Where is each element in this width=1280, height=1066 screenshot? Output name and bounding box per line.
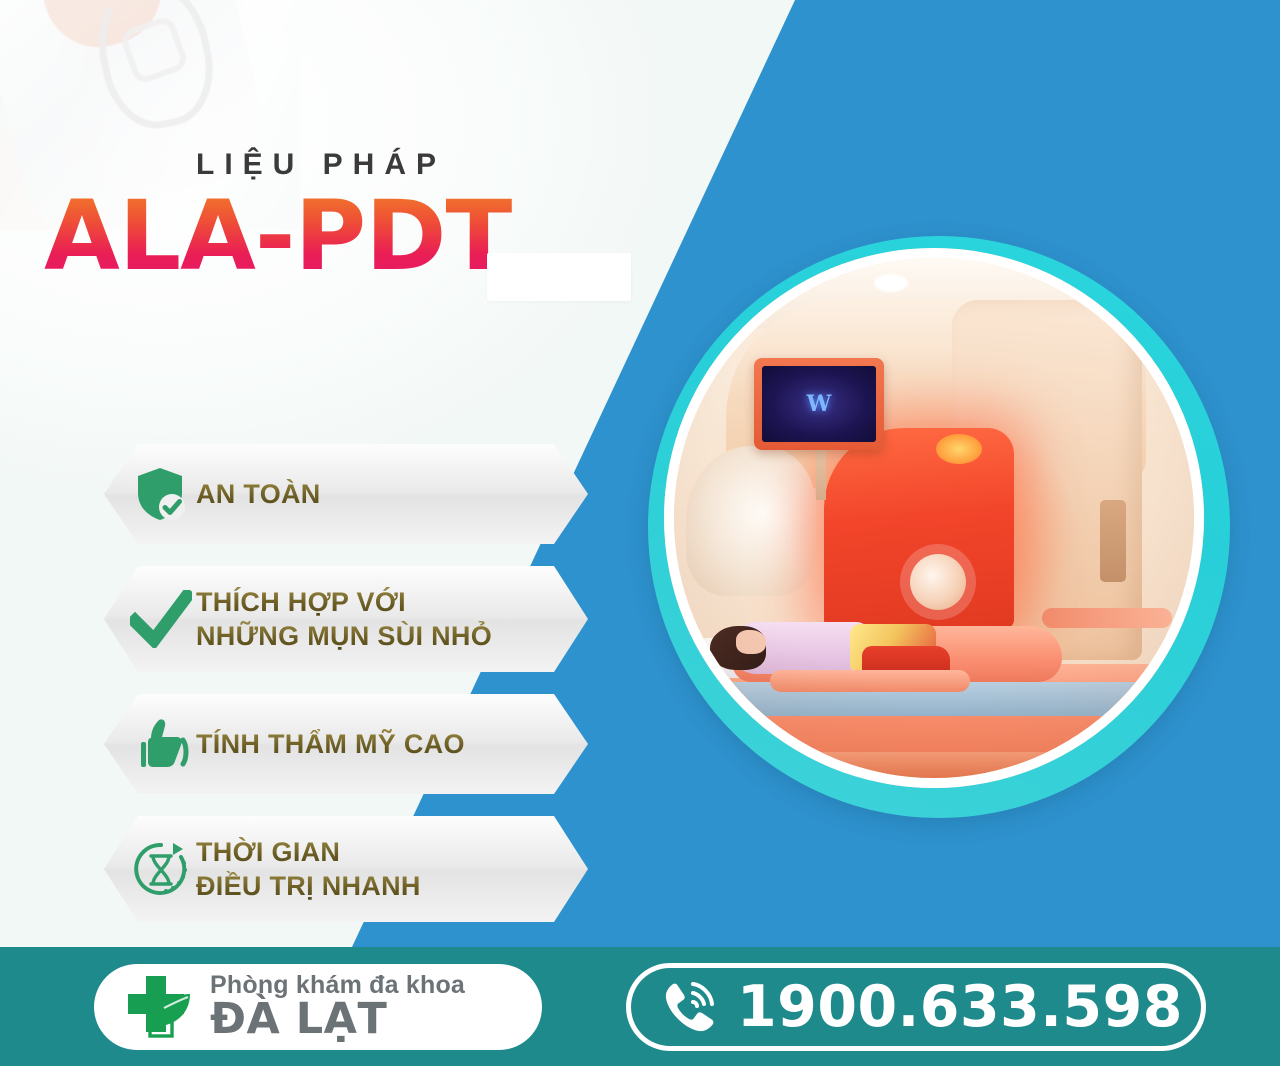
- phone-ring-icon: [659, 976, 721, 1038]
- feature-badge-an-toan[interactable]: AN TOÀN: [104, 444, 588, 544]
- feature-badge-label-line1: THÍCH HỢP VỚI: [196, 585, 512, 619]
- hourglass-clock-icon: [104, 816, 196, 922]
- phone-cta[interactable]: 1900.633.598: [626, 963, 1206, 1051]
- clinic-name: ĐÀ LẠT: [210, 998, 465, 1042]
- poster-root: LIỆU PHÁP ALA-PDT AN TOÀN THÍCH HỢP V: [0, 0, 1280, 1066]
- feature-badge-label: AN TOÀN: [196, 477, 341, 511]
- feature-badge-label: TÍNH THẨM MỸ CAO: [196, 727, 485, 761]
- feature-badge-thoi-gian[interactable]: THỜI GIAN ĐIỀU TRỊ NHANH: [104, 816, 588, 922]
- feature-badge-tham-my[interactable]: TÍNH THẨM MỸ CAO: [104, 694, 588, 794]
- green-cross-leaf-icon: [120, 972, 198, 1042]
- page-kicker: LIỆU PHÁP: [44, 148, 684, 182]
- photo-vignette: [674, 258, 1194, 778]
- clinic-text-block: Phòng khám đa khoa ĐÀ LẠT: [198, 972, 465, 1042]
- feature-badge-thich-hop[interactable]: THÍCH HỢP VỚI NHỮNG MỤN SÙI NHỎ: [104, 566, 588, 672]
- check-mark-icon: [104, 566, 196, 672]
- clinic-badge[interactable]: Phòng khám đa khoa ĐÀ LẠT: [94, 964, 542, 1050]
- brand-mask-box: [487, 253, 631, 301]
- feature-badge-label-block: THỜI GIAN ĐIỀU TRỊ NHANH: [196, 835, 441, 903]
- feature-badge-label-line1: THỜI GIAN: [196, 835, 441, 869]
- photo-ring: W: [648, 236, 1230, 818]
- therapy-photo-inner: W: [674, 258, 1194, 778]
- feature-badge-list: AN TOÀN THÍCH HỢP VỚI NHỮNG MỤN SÙI NHỎ: [104, 444, 604, 944]
- therapy-photo: W: [664, 248, 1204, 788]
- feature-badge-label-line2: ĐIỀU TRỊ NHANH: [196, 869, 441, 903]
- phone-number: 1900.633.598: [721, 979, 1183, 1036]
- thumbs-up-icon: [104, 694, 196, 794]
- feature-badge-label-block: THÍCH HỢP VỚI NHỮNG MỤN SÙI NHỎ: [196, 585, 512, 653]
- feature-badge-label-line2: NHỮNG MỤN SÙI NHỎ: [196, 619, 512, 653]
- footer-bar: Phòng khám đa khoa ĐÀ LẠT 1900.633.598: [0, 947, 1280, 1066]
- shield-check-icon: [104, 444, 196, 544]
